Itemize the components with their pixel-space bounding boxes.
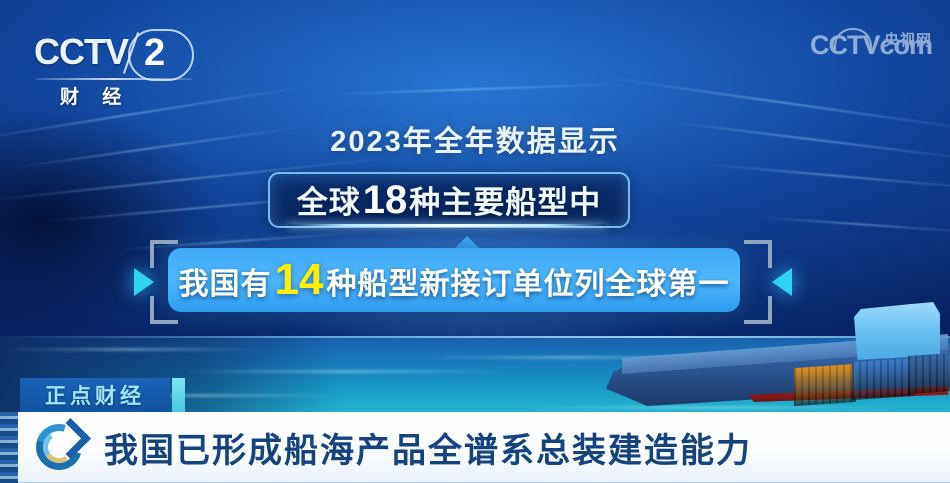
bracket-top-left-icon bbox=[150, 240, 178, 268]
broadcast-screenshot: CCTV 2 财 经 央视网 CCTVcom 2023年全年数据显示 全球18种… bbox=[0, 0, 950, 483]
shipping-container bbox=[908, 352, 950, 394]
statement-1-text: 全球18种主要船型中 bbox=[297, 177, 602, 223]
statement-2-suffix: 种船型新接订单位列全球第一 bbox=[326, 268, 729, 301]
cctv-channel-subtitle: 财 经 bbox=[60, 82, 130, 109]
cctv-channel-number: 2 bbox=[144, 32, 165, 75]
statement-1-suffix: 种主要船型中 bbox=[409, 185, 601, 220]
cctv-logo-rule bbox=[36, 78, 192, 80]
statement-box-1-underline bbox=[288, 224, 606, 227]
arrow-right-icon bbox=[772, 268, 792, 296]
bracket-top-right-icon bbox=[744, 240, 772, 268]
lower-third-left-edge bbox=[0, 412, 18, 483]
statement-box-1: 全球18种主要船型中 bbox=[268, 172, 630, 228]
bracket-bottom-left-icon bbox=[150, 296, 178, 324]
program-tab: 正点财经 bbox=[20, 378, 170, 412]
container-ship-graphic bbox=[598, 300, 950, 420]
statement-box-2: 我国有14种船型新接订单位列全球第一 bbox=[168, 248, 740, 312]
bracket-bottom-right-icon bbox=[744, 296, 772, 324]
shipping-container bbox=[794, 364, 856, 406]
lower-third-headline: 我国已形成船海产品全谱系总装建造能力 bbox=[104, 412, 752, 483]
statement-2-text: 我国有14种船型新接订单位列全球第一 bbox=[179, 255, 730, 305]
ship-superstructure bbox=[854, 302, 940, 360]
overlay-kicker: 2023年全年数据显示 bbox=[0, 118, 950, 160]
program-tab-label: 正点财经 bbox=[45, 380, 145, 410]
statement-1-number: 18 bbox=[363, 178, 408, 222]
cctv-com-watermark: 央视网 CCTVcom bbox=[810, 32, 932, 76]
statement-1-prefix: 全球 bbox=[297, 185, 361, 220]
statement-2-number: 14 bbox=[275, 255, 324, 304]
growth-arrow-logo bbox=[30, 418, 88, 476]
watermark-chinese: 央视网 bbox=[884, 29, 932, 50]
arrow-left-icon bbox=[134, 268, 154, 296]
shipping-container bbox=[852, 358, 914, 400]
statement-2-prefix: 我国有 bbox=[179, 268, 272, 301]
cctv2-logo: CCTV 2 财 经 bbox=[34, 34, 234, 96]
program-tab-accent bbox=[172, 378, 185, 412]
